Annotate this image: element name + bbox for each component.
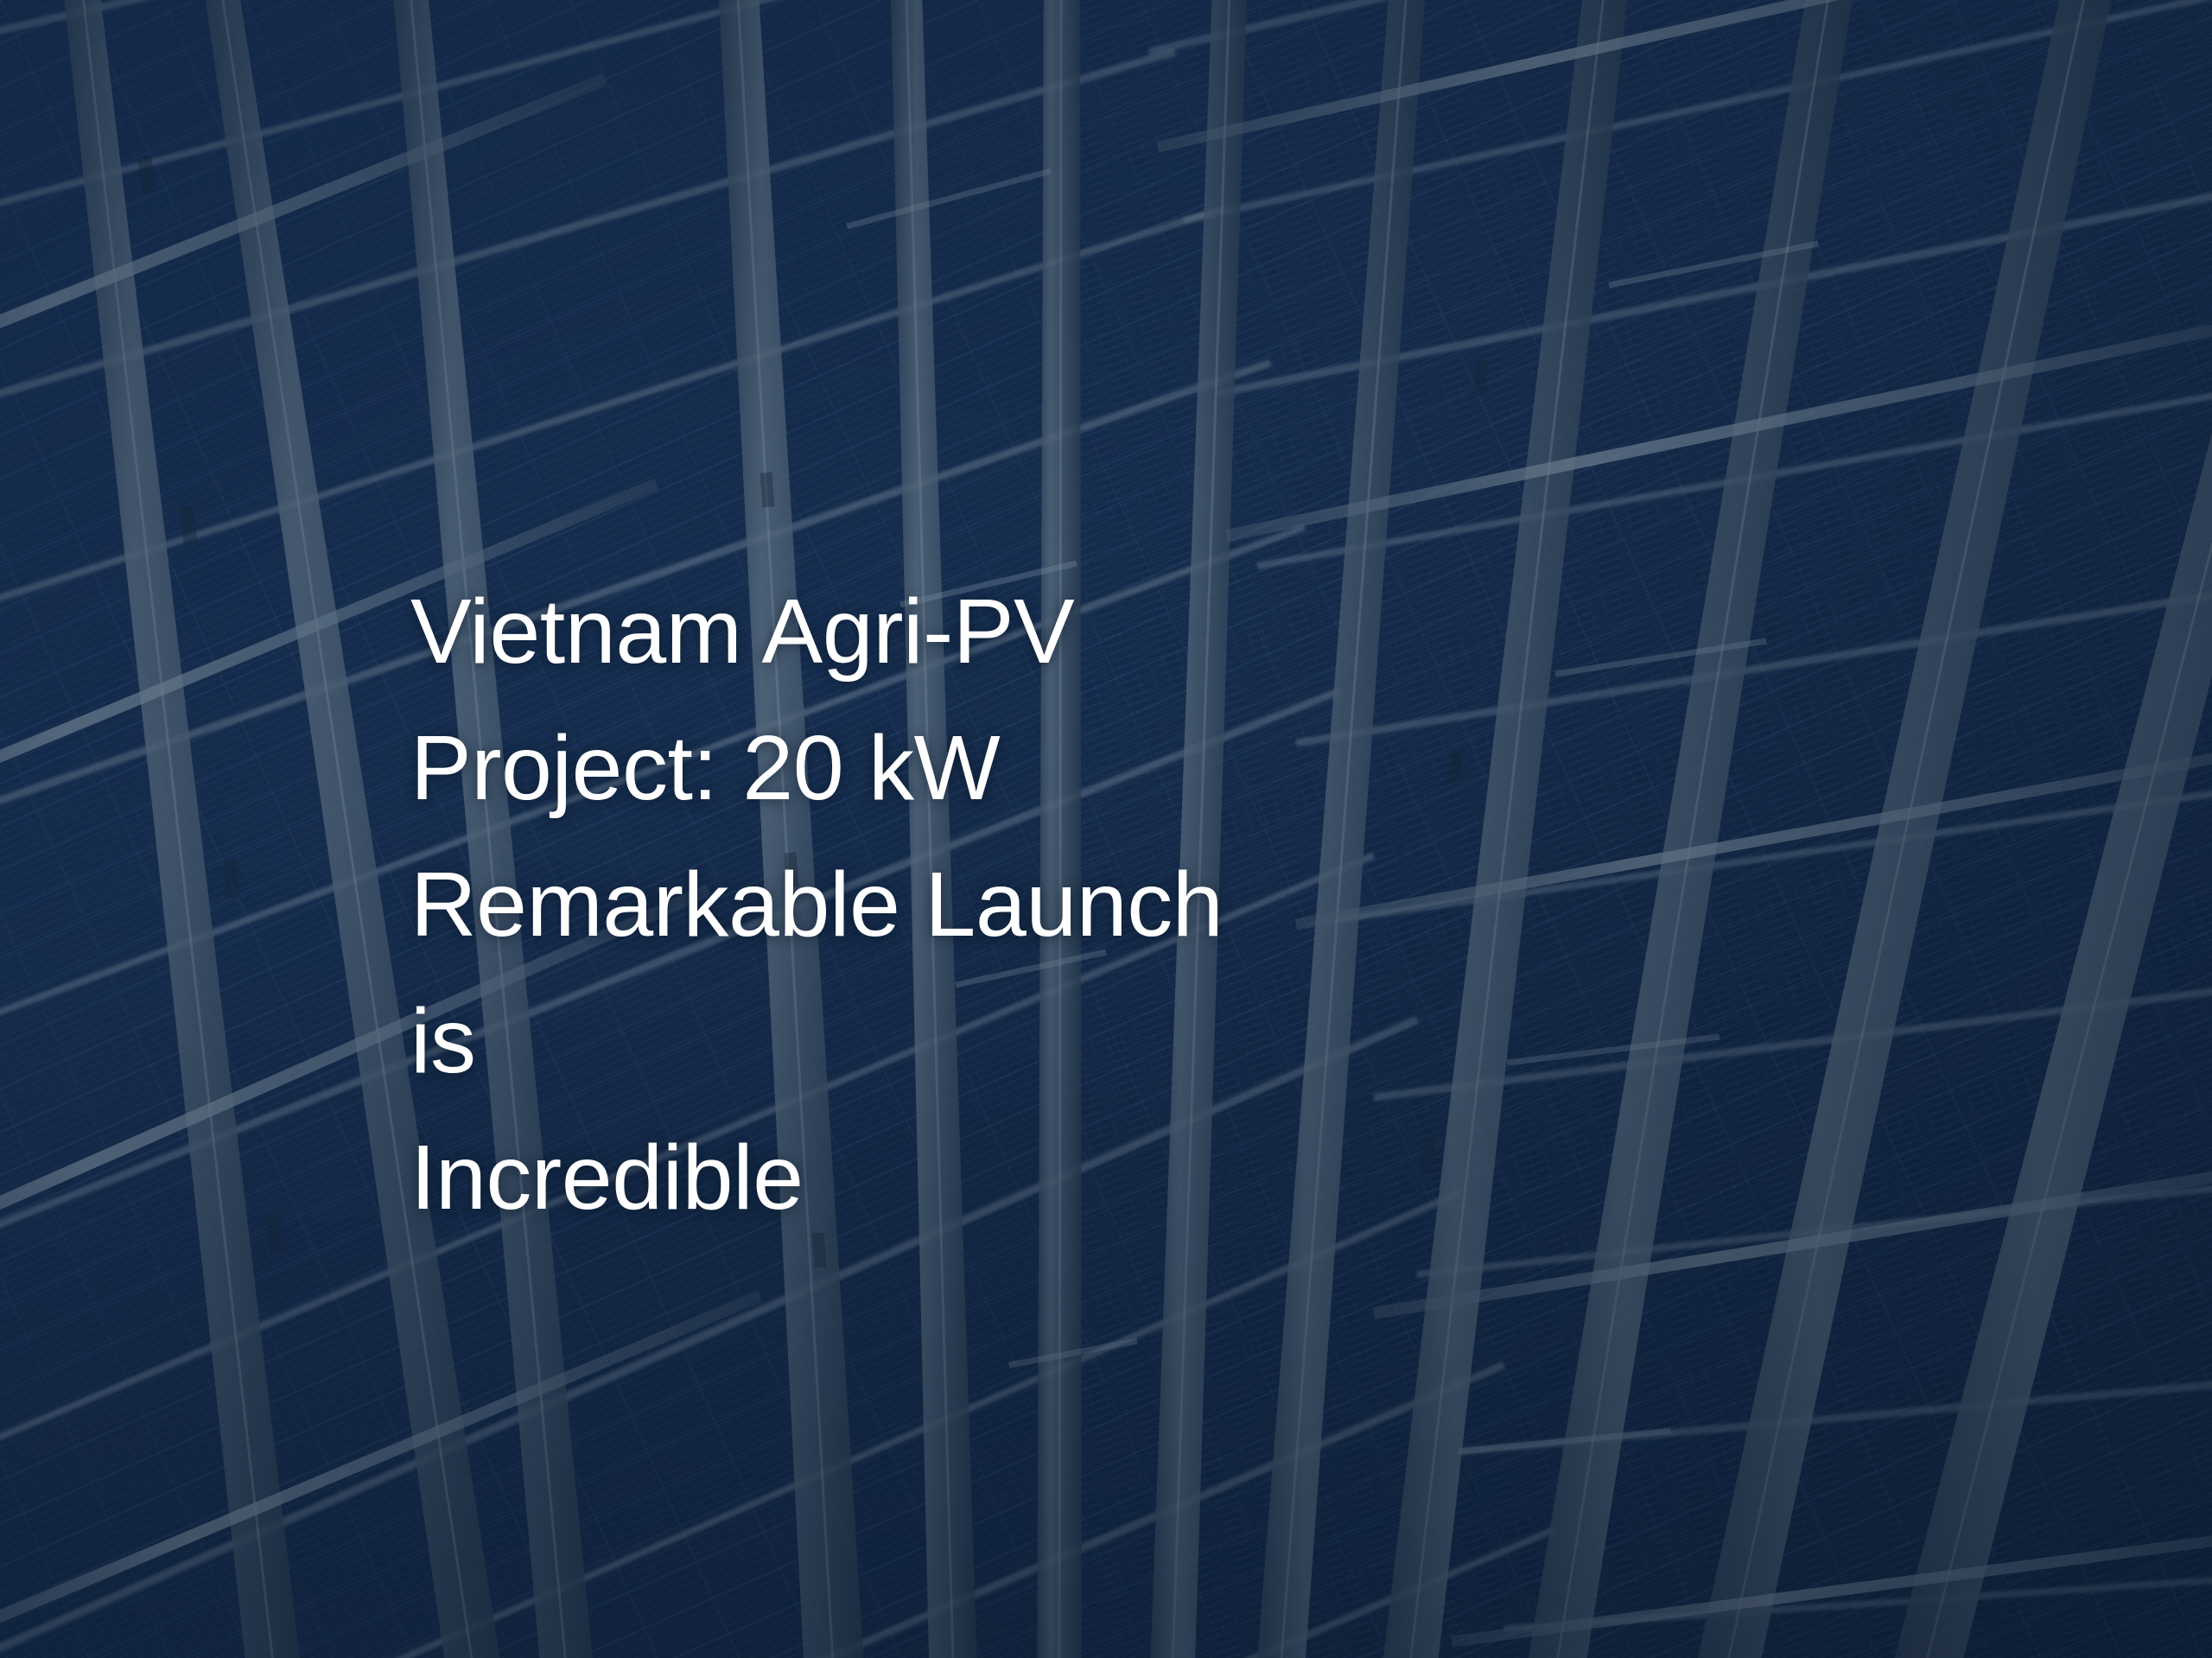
article-hero-banner: Vietnam Agri-PV Project: 20 kW Remarkabl…: [0, 0, 2212, 1658]
page-title: Vietnam Agri-PV Project: 20 kW Remarkabl…: [410, 563, 1274, 1246]
hero-content: Vietnam Agri-PV Project: 20 kW Remarkabl…: [410, 563, 1827, 1246]
